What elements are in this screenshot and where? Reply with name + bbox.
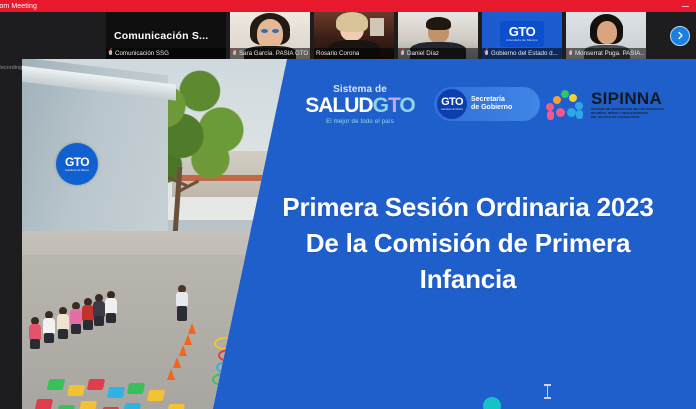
gto-badge-mark: GTO xyxy=(441,97,463,108)
photo-hoop xyxy=(216,361,238,374)
mic-muted-icon xyxy=(568,50,573,57)
secretaria-line-2: de Gobierno xyxy=(471,104,512,112)
participant-name: Rosario Corona xyxy=(316,48,359,59)
participant-tile-daniel[interactable]: Daniel Díaz xyxy=(398,12,478,59)
secretaria-text: Secretaría de Gobierno xyxy=(471,96,512,112)
participant-filmstrip: Comunicación S... Comunicación SSG Sara … xyxy=(0,12,696,59)
participant-name: Comunicación SSG xyxy=(115,48,169,59)
photo-foam-mat xyxy=(147,390,165,401)
next-participants-button[interactable] xyxy=(670,26,690,46)
participant-namebar: Rosario Corona xyxy=(314,48,394,59)
photo-child xyxy=(104,291,118,323)
photo-cone xyxy=(179,345,187,356)
chevron-right-icon xyxy=(676,31,685,40)
photo-gto-logo-icon: GTO Grandeza de México xyxy=(56,143,98,185)
slide-logo-row: Sistema de SALUDGTO El mejor de todo el … xyxy=(290,75,694,133)
window-title: Zoom Meeting xyxy=(0,3,37,10)
photo-child xyxy=(42,311,56,343)
salud-gto-logo: Sistema de SALUDGTO El mejor de todo el … xyxy=(290,84,430,125)
slide-title-line-2: De la Comisión de Primera xyxy=(242,225,694,261)
salud-word: SALUD xyxy=(305,94,372,117)
minimize-icon[interactable] xyxy=(674,0,696,12)
slide-title: Primera Sesión Ordinaria 2023 De la Comi… xyxy=(242,189,694,297)
slide-title-line-1: Primera Sesión Ordinaria 2023 xyxy=(242,189,694,225)
secretaria-gobierno-logo: GTO Grandeza de México Secretaría de Gob… xyxy=(434,87,540,121)
window-titlebar: Zoom Meeting xyxy=(0,0,696,12)
sipinna-text: SIPINNA SISTEMA DE PROTECCIÓN DE LOS DER… xyxy=(591,90,664,119)
gto-mark: GTO xyxy=(509,25,535,38)
recording-status-label: Recording xyxy=(0,65,22,71)
photo-gto-mark: GTO xyxy=(65,156,89,168)
slide-accent-dot xyxy=(483,397,501,409)
photo-running-child xyxy=(174,285,190,323)
photo-child xyxy=(28,317,42,349)
photo-foam-mat xyxy=(107,387,125,398)
participant-namebar: Sara García. PASIA GTO xyxy=(230,48,310,59)
mic-muted-icon xyxy=(400,50,405,57)
mic-muted-icon xyxy=(232,50,237,57)
participant-tile-monserrat[interactable]: Monserrat Puga. PASIA... xyxy=(566,12,646,59)
sipinna-wordmark: SIPINNA xyxy=(591,90,664,107)
zoom-meeting-window: Zoom Meeting Comunicación S... Comunicac… xyxy=(0,0,696,409)
mic-muted-icon xyxy=(484,50,489,57)
active-speaker-label: Comunicación S... xyxy=(106,30,208,42)
participant-tile-rosario[interactable]: Rosario Corona xyxy=(314,12,394,59)
photo-foam-mat xyxy=(123,403,141,409)
gto-mark-sub: Grandeza de México xyxy=(506,38,537,42)
photo-foam-mat xyxy=(127,383,145,394)
photo-cone xyxy=(188,323,196,334)
photo-foam-mat xyxy=(47,379,65,390)
participant-tiles: Comunicación S... Comunicación SSG Sara … xyxy=(106,12,646,59)
photo-child xyxy=(56,307,70,339)
salud-t: T xyxy=(388,94,399,117)
secretaria-line-1: Secretaría xyxy=(471,96,512,104)
photo-cone xyxy=(167,369,175,380)
participant-name: Daniel Díaz xyxy=(407,48,439,59)
active-speaker-tile[interactable]: Comunicación S... Comunicación SSG xyxy=(106,12,226,59)
photo-hoop xyxy=(214,337,236,350)
participant-namebar: Comunicación SSG xyxy=(106,48,226,59)
slide-title-line-3: Infancia xyxy=(242,261,694,297)
gto-logo-icon: GTO Grandeza de México xyxy=(500,21,544,47)
salud-o: O xyxy=(399,94,414,117)
salud-g: G xyxy=(373,94,388,117)
photo-hoop xyxy=(218,349,240,362)
participant-name: Sara García. PASIA GTO xyxy=(239,48,308,59)
gto-badge-sub: Grandeza de México xyxy=(441,108,463,111)
sipinna-people-icon xyxy=(544,87,588,121)
participant-namebar: Gobierno del Estado d... xyxy=(482,48,562,59)
participant-name: Monserrat Puga. PASIA... xyxy=(575,48,644,59)
photo-cone xyxy=(173,357,181,368)
photo-foam-mat xyxy=(79,401,97,409)
mic-muted-icon xyxy=(108,50,113,57)
presentation-slide: GTO Grandeza de México xyxy=(22,59,696,409)
sipinna-logo: SIPINNA SISTEMA DE PROTECCIÓN DE LOS DER… xyxy=(544,87,664,121)
photo-foam-mat xyxy=(87,379,105,390)
participant-tile-gobierno[interactable]: GTO Grandeza de México Gobierno del Esta… xyxy=(482,12,562,59)
salud-tagline: El mejor de todo el país xyxy=(326,119,394,125)
photo-cone xyxy=(184,334,192,345)
sipinna-sub-3: DEL ESTADO DE GUANAJUATO xyxy=(591,115,664,119)
photo-foam-mat xyxy=(35,399,53,409)
gto-badge-icon: GTO Grandeza de México xyxy=(437,89,467,119)
participant-name: Gobierno del Estado d... xyxy=(491,48,558,59)
left-rail: Recording xyxy=(0,59,22,409)
salud-wordmark: SALUDGTO xyxy=(305,95,414,116)
photo-gto-mark-sub: Grandeza de México xyxy=(65,169,89,172)
participant-tile-sara[interactable]: Sara García. PASIA GTO xyxy=(230,12,310,59)
participant-namebar: Daniel Díaz xyxy=(398,48,478,59)
photo-hoop xyxy=(212,373,234,386)
participant-namebar: Monserrat Puga. PASIA... xyxy=(566,48,646,59)
photo-foam-mat xyxy=(67,385,85,396)
photo-foam-mat xyxy=(57,405,75,409)
photo-foam-mat xyxy=(167,404,185,409)
shared-screen-stage[interactable]: GTO Grandeza de México xyxy=(22,59,696,409)
